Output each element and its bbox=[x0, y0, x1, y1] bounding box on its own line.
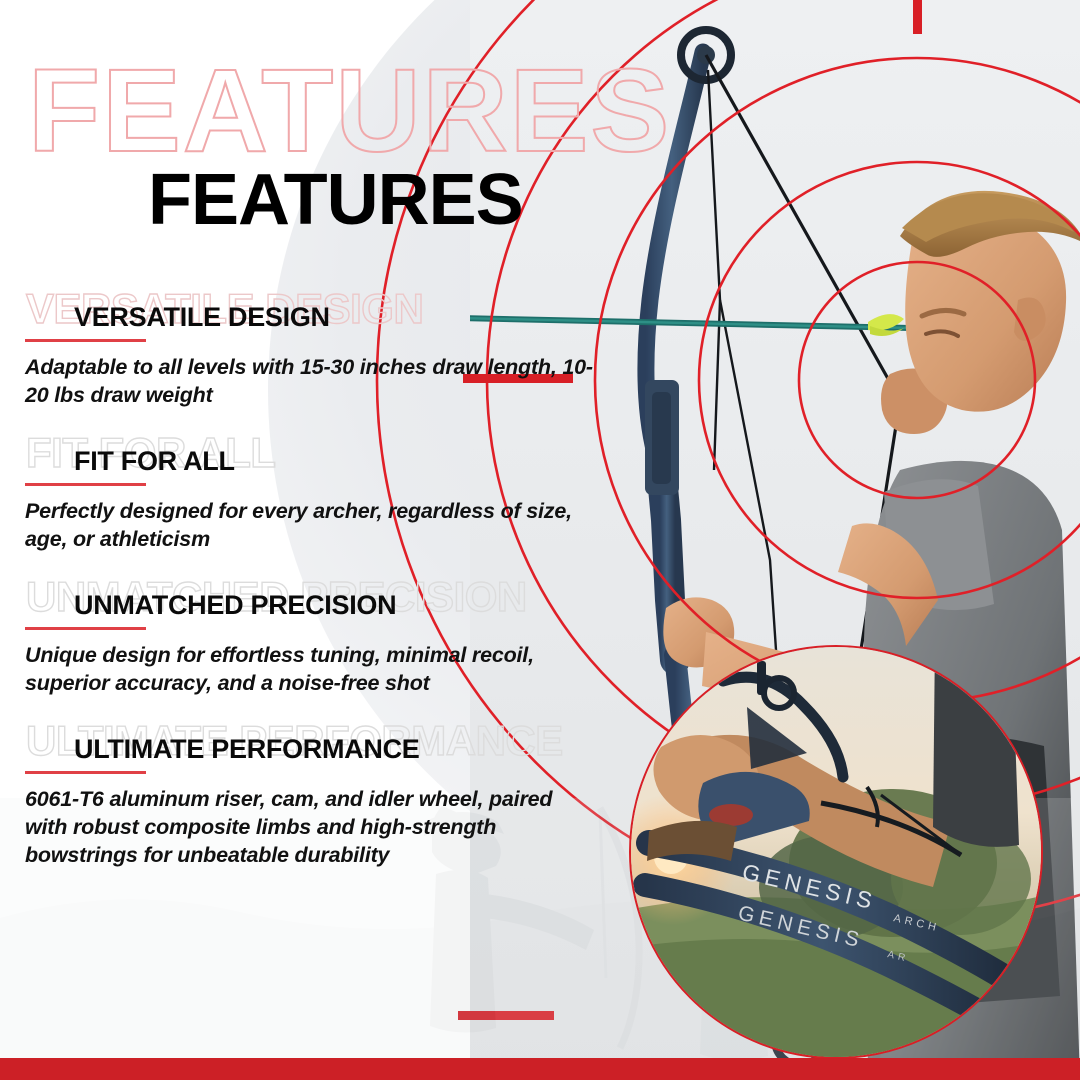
crosshair-tick-top bbox=[913, 0, 922, 34]
feature-body: 6061-T6 aluminum riser, cam, and idler w… bbox=[0, 786, 600, 870]
page-title: FEATURES FEATURES bbox=[0, 52, 700, 202]
footer-bar bbox=[0, 1058, 1080, 1080]
feature-body: Perfectly designed for every archer, reg… bbox=[0, 498, 600, 554]
page-title-ghost: FEATURES bbox=[28, 52, 671, 170]
feature-title: VERSATILE DESIGN bbox=[74, 304, 330, 331]
feature-title: UNMATCHED PRECISION bbox=[74, 592, 396, 619]
feature-underline-rule bbox=[25, 771, 146, 774]
feature-heading: FIT FOR ALL FIT FOR ALL bbox=[0, 436, 640, 486]
feature-item: UNMATCHED PRECISION UNMATCHED PRECISION … bbox=[0, 580, 640, 698]
feature-item: FIT FOR ALL FIT FOR ALL Perfectly design… bbox=[0, 436, 640, 554]
feature-heading: ULTIMATE PERFORMANCE ULTIMATE PERFORMANC… bbox=[0, 724, 640, 774]
feature-title: ULTIMATE PERFORMANCE bbox=[74, 736, 419, 763]
feature-body: Unique design for effortless tuning, min… bbox=[0, 642, 600, 698]
page-title-solid: FEATURES bbox=[148, 164, 523, 236]
feature-item: ULTIMATE PERFORMANCE ULTIMATE PERFORMANC… bbox=[0, 724, 640, 870]
feature-list: VERSATILE DESIGN VERSATILE DESIGN Adapta… bbox=[0, 292, 640, 895]
feature-heading: UNMATCHED PRECISION UNMATCHED PRECISION bbox=[0, 580, 640, 630]
feature-item: VERSATILE DESIGN VERSATILE DESIGN Adapta… bbox=[0, 292, 640, 410]
feature-body: Adaptable to all levels with 15-30 inche… bbox=[0, 354, 600, 410]
feature-underline-rule bbox=[25, 627, 146, 630]
inset-closeup-photo: GENESIS ARCH GENESIS AR bbox=[629, 645, 1043, 1059]
feature-title: FIT FOR ALL bbox=[74, 448, 235, 475]
feature-heading: VERSATILE DESIGN VERSATILE DESIGN bbox=[0, 292, 640, 342]
feature-underline-rule bbox=[25, 483, 146, 486]
feature-underline-rule bbox=[25, 339, 146, 342]
infographic-stage: GENESIS ARCH GENESIS AR FEATURES FEATURE… bbox=[0, 0, 1080, 1080]
